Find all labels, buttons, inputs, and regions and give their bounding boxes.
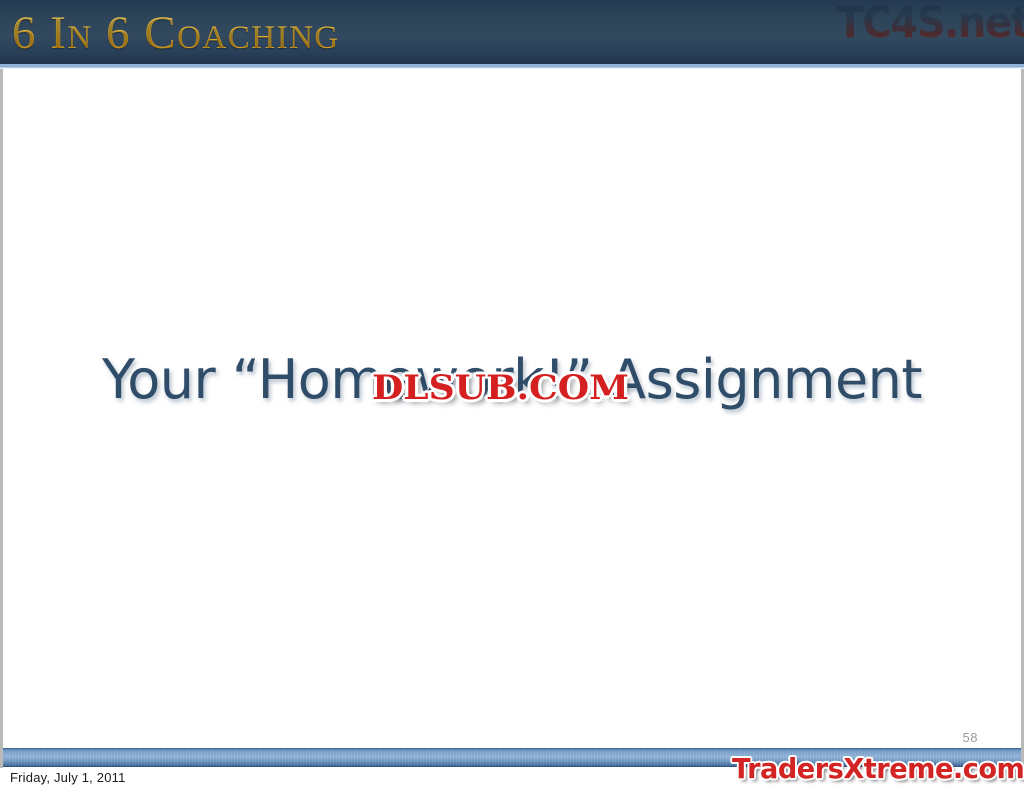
footer-date: Friday, July 1, 2011 [10, 770, 126, 785]
presentation-slide: 6 In 6 Coaching TC4S.net Your “Homework!… [0, 0, 1024, 788]
tradersxtreme-footer-logo: TradersXtreme.com [732, 752, 1024, 786]
header-accent-line [0, 66, 1024, 69]
tc4s-brand-logo: TC4S.net [836, 0, 1024, 50]
slide-number: 58 [963, 730, 978, 745]
dlsub-watermark: DLSUB.COM [372, 368, 629, 408]
slide-header-band: 6 In 6 Coaching TC4S.net [0, 0, 1024, 66]
slide-header-title: 6 In 6 Coaching [12, 2, 340, 64]
